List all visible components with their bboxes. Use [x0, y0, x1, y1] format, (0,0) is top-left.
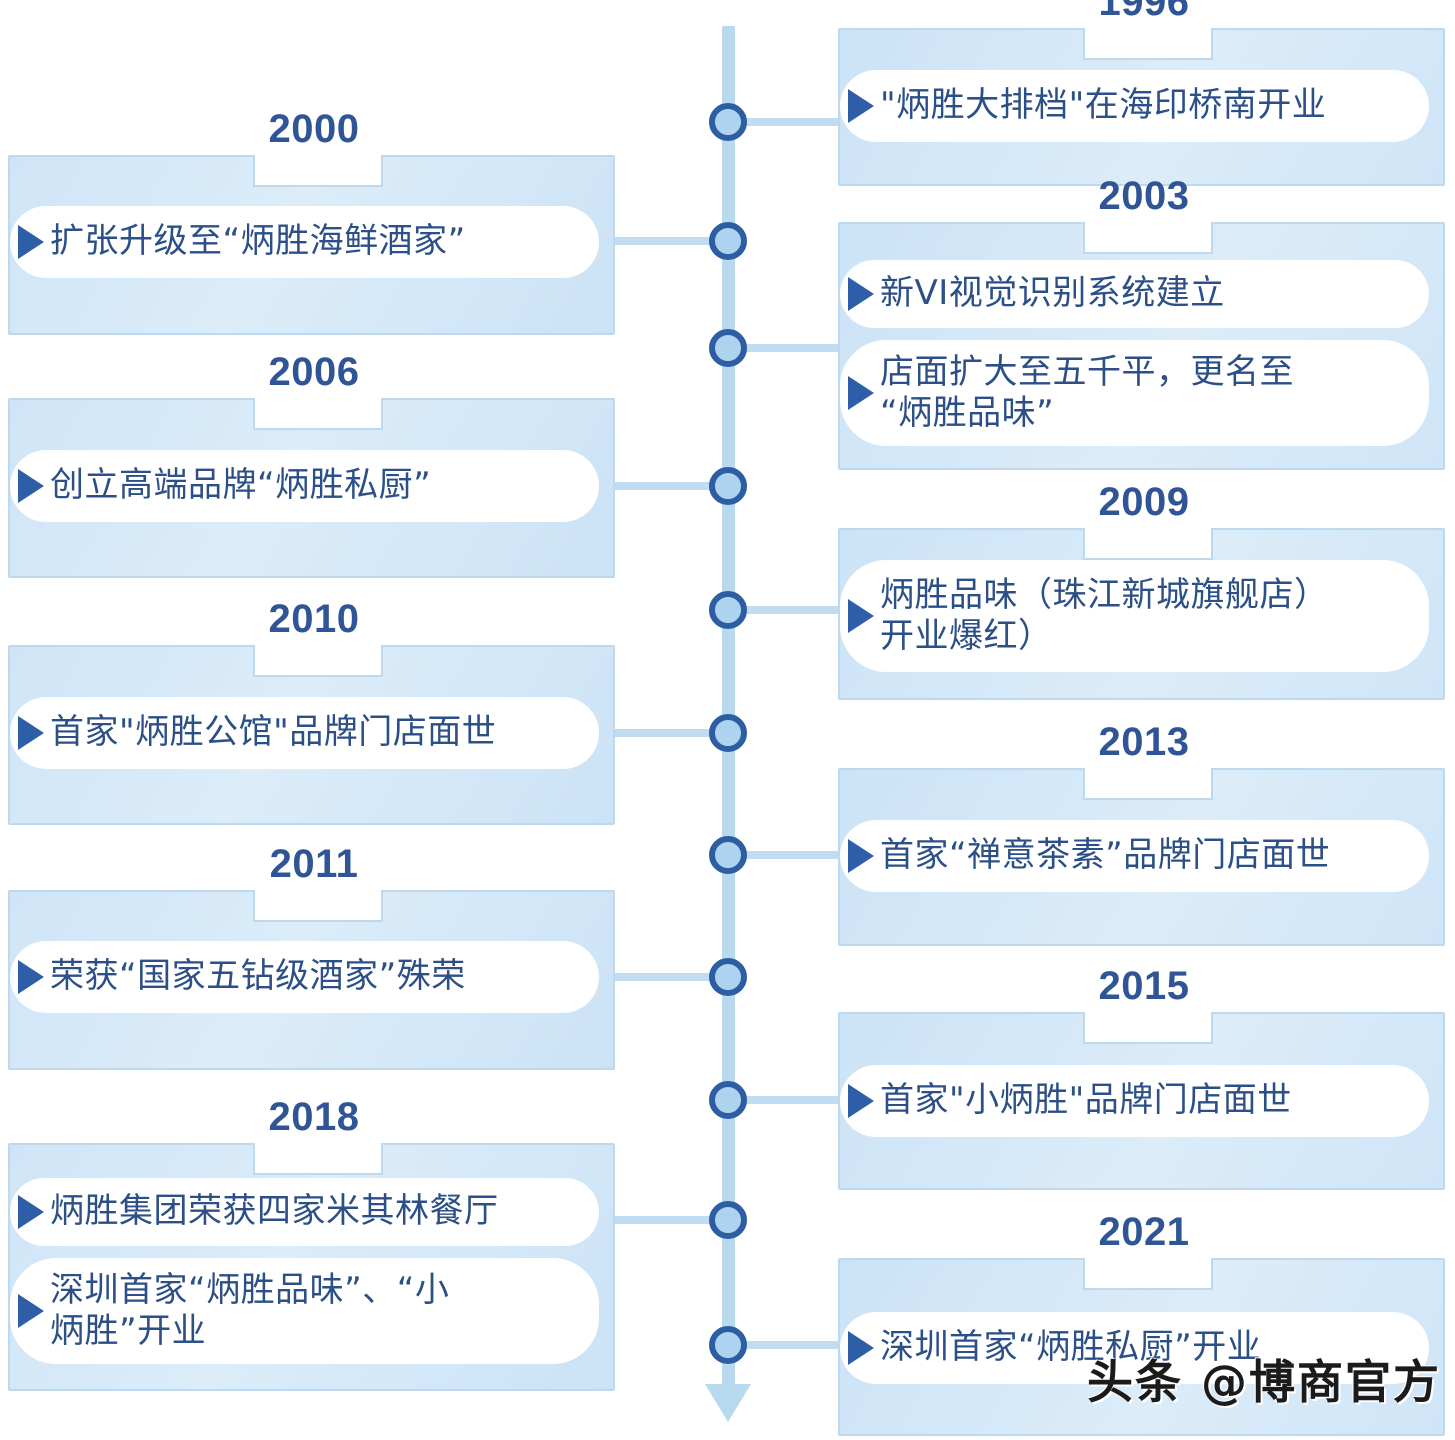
- year-label-2006: 2006: [231, 350, 397, 395]
- year-notch: [253, 155, 383, 187]
- watermark: 头条 @博商官方: [1087, 1346, 1441, 1412]
- event-item-pill[interactable]: "炳胜大排档"在海印桥南开业: [840, 70, 1429, 142]
- event-item-pill[interactable]: 荣获“国家五钻级酒家”殊荣: [10, 941, 599, 1013]
- event-item-text: 创立高端品牌“炳胜私厨”: [50, 465, 431, 506]
- event-item-pill[interactable]: 炳胜集团荣获四家米其林餐厅: [10, 1178, 599, 1246]
- year-label-2003: 2003: [1061, 174, 1227, 219]
- event-item-text: 店面扩大至五千平，更名至 “炳胜品味”: [880, 352, 1294, 435]
- timeline-arrow-icon: [705, 1384, 751, 1422]
- bullet-triangle-icon: [18, 1294, 44, 1328]
- event-item-text: "炳胜大排档"在海印桥南开业: [880, 85, 1326, 126]
- year-label-2013: 2013: [1061, 720, 1227, 765]
- event-item-text: 首家“禅意茶素”品牌门店面世: [880, 835, 1330, 876]
- event-item-text: 首家"小炳胜"品牌门店面世: [880, 1080, 1292, 1121]
- event-item-pill[interactable]: 深圳首家“炳胜品味”、“小 炳胜”开业: [10, 1258, 599, 1364]
- year-notch: [1083, 1012, 1213, 1044]
- year-label-2018: 2018: [231, 1095, 397, 1140]
- year-notch: [253, 1143, 383, 1175]
- event-item-text: 扩张升级至“炳胜海鲜酒家”: [50, 221, 466, 262]
- bullet-triangle-icon: [848, 89, 874, 123]
- bullet-triangle-icon: [848, 1331, 874, 1365]
- year-label-2000: 2000: [231, 107, 397, 152]
- event-item-pill[interactable]: 店面扩大至五千平，更名至 “炳胜品味”: [840, 340, 1429, 446]
- year-label-2011: 2011: [231, 842, 397, 887]
- timeline-node-1996[interactable]: [709, 103, 747, 141]
- bullet-triangle-icon: [18, 225, 44, 259]
- event-item-pill[interactable]: 首家"炳胜公馆"品牌门店面世: [10, 697, 599, 769]
- timeline-node-2000[interactable]: [709, 222, 747, 260]
- year-notch: [1083, 1258, 1213, 1290]
- bullet-triangle-icon: [848, 839, 874, 873]
- year-notch: [1083, 768, 1213, 800]
- bullet-triangle-icon: [848, 376, 874, 410]
- bullet-triangle-icon: [18, 716, 44, 750]
- timeline-node-2021[interactable]: [709, 1326, 747, 1364]
- bullet-triangle-icon: [18, 1195, 44, 1229]
- event-item-pill[interactable]: 创立高端品牌“炳胜私厨”: [10, 450, 599, 522]
- year-notch: [253, 398, 383, 430]
- event-item-pill[interactable]: 扩张升级至“炳胜海鲜酒家”: [10, 206, 599, 278]
- year-notch: [1083, 222, 1213, 254]
- timeline-node-2018[interactable]: [709, 1201, 747, 1239]
- bullet-triangle-icon: [18, 469, 44, 503]
- bullet-triangle-icon: [18, 960, 44, 994]
- timeline-node-2011[interactable]: [709, 958, 747, 996]
- year-label-2009: 2009: [1061, 480, 1227, 525]
- event-item-pill[interactable]: 新VI视觉识别系统建立: [840, 260, 1429, 328]
- event-item-pill[interactable]: 首家"小炳胜"品牌门店面世: [840, 1065, 1429, 1137]
- event-item-text: 深圳首家“炳胜品味”、“小 炳胜”开业: [50, 1270, 449, 1353]
- bullet-triangle-icon: [848, 599, 874, 633]
- year-notch: [253, 645, 383, 677]
- event-item-text: 荣获“国家五钻级酒家”殊荣: [50, 956, 466, 997]
- event-item-text: 首家"炳胜公馆"品牌门店面世: [50, 712, 496, 753]
- event-item-text: 炳胜品味（珠江新城旗舰店） 开业爆红）: [880, 575, 1329, 658]
- year-notch: [253, 890, 383, 922]
- event-item-text: 新VI视觉识别系统建立: [880, 273, 1225, 314]
- timeline-node-2013[interactable]: [709, 836, 747, 874]
- event-item-text: 炳胜集团荣获四家米其林餐厅: [50, 1191, 499, 1232]
- timeline-node-2010[interactable]: [709, 714, 747, 752]
- year-label-1996: 1996: [1061, 0, 1227, 25]
- year-notch: [1083, 28, 1213, 60]
- event-item-pill[interactable]: 炳胜品味（珠江新城旗舰店） 开业爆红）: [840, 560, 1429, 672]
- timeline-node-2009[interactable]: [709, 591, 747, 629]
- timeline-node-2006[interactable]: [709, 467, 747, 505]
- event-item-pill[interactable]: 首家“禅意茶素”品牌门店面世: [840, 820, 1429, 892]
- year-notch: [1083, 528, 1213, 560]
- year-label-2021: 2021: [1061, 1210, 1227, 1255]
- bullet-triangle-icon: [848, 277, 874, 311]
- year-label-2010: 2010: [231, 597, 397, 642]
- timeline-node-2003[interactable]: [709, 329, 747, 367]
- year-label-2015: 2015: [1061, 964, 1227, 1009]
- bullet-triangle-icon: [848, 1084, 874, 1118]
- timeline-node-2015[interactable]: [709, 1081, 747, 1119]
